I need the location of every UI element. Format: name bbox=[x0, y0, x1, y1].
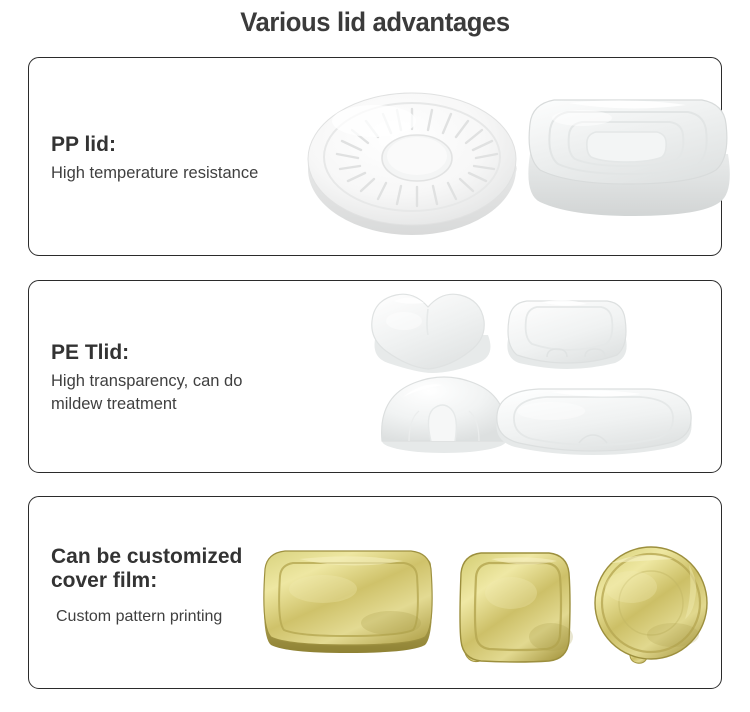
panel-pp-lid: PP lid: High temperature resistance bbox=[28, 57, 722, 256]
heart-shaped-pe-lid-image bbox=[354, 287, 504, 373]
square-gold-foil-lid-image bbox=[455, 547, 595, 669]
square-dome-pe-lid-image bbox=[493, 289, 633, 371]
page-title: Various lid advantages bbox=[19, 7, 732, 38]
cover-film-subtext: Custom pattern printing bbox=[51, 606, 242, 629]
pp-lid-subtext: High temperature resistance bbox=[51, 162, 258, 185]
pp-lid-text-block: PP lid: High temperature resistance bbox=[51, 133, 258, 185]
pp-lid-heading: PP lid: bbox=[51, 133, 258, 157]
rectangular-pp-lid-image bbox=[516, 84, 731, 234]
pe-lid-subtext: High transparency, can do mildew treatme… bbox=[51, 370, 242, 417]
cover-film-heading: Can be customized cover film: bbox=[51, 545, 242, 592]
panel-pe-lid: PE Tlid: High transparency, can do milde… bbox=[28, 280, 722, 473]
pe-lid-heading: PE Tlid: bbox=[51, 341, 242, 365]
panel-cover-film: Can be customized cover film: Custom pat… bbox=[28, 496, 722, 689]
cover-film-text-block: Can be customized cover film: Custom pat… bbox=[51, 545, 242, 629]
rectangular-gold-foil-lid-image bbox=[259, 545, 449, 657]
oval-flat-pe-lid-image bbox=[481, 381, 706, 457]
round-dome-pe-lid-image bbox=[369, 371, 519, 455]
pe-lid-text-block: PE Tlid: High transparency, can do milde… bbox=[51, 341, 242, 416]
round-gold-foil-lid-image bbox=[577, 543, 737, 669]
round-ribbed-pp-lid-image bbox=[304, 79, 539, 244]
